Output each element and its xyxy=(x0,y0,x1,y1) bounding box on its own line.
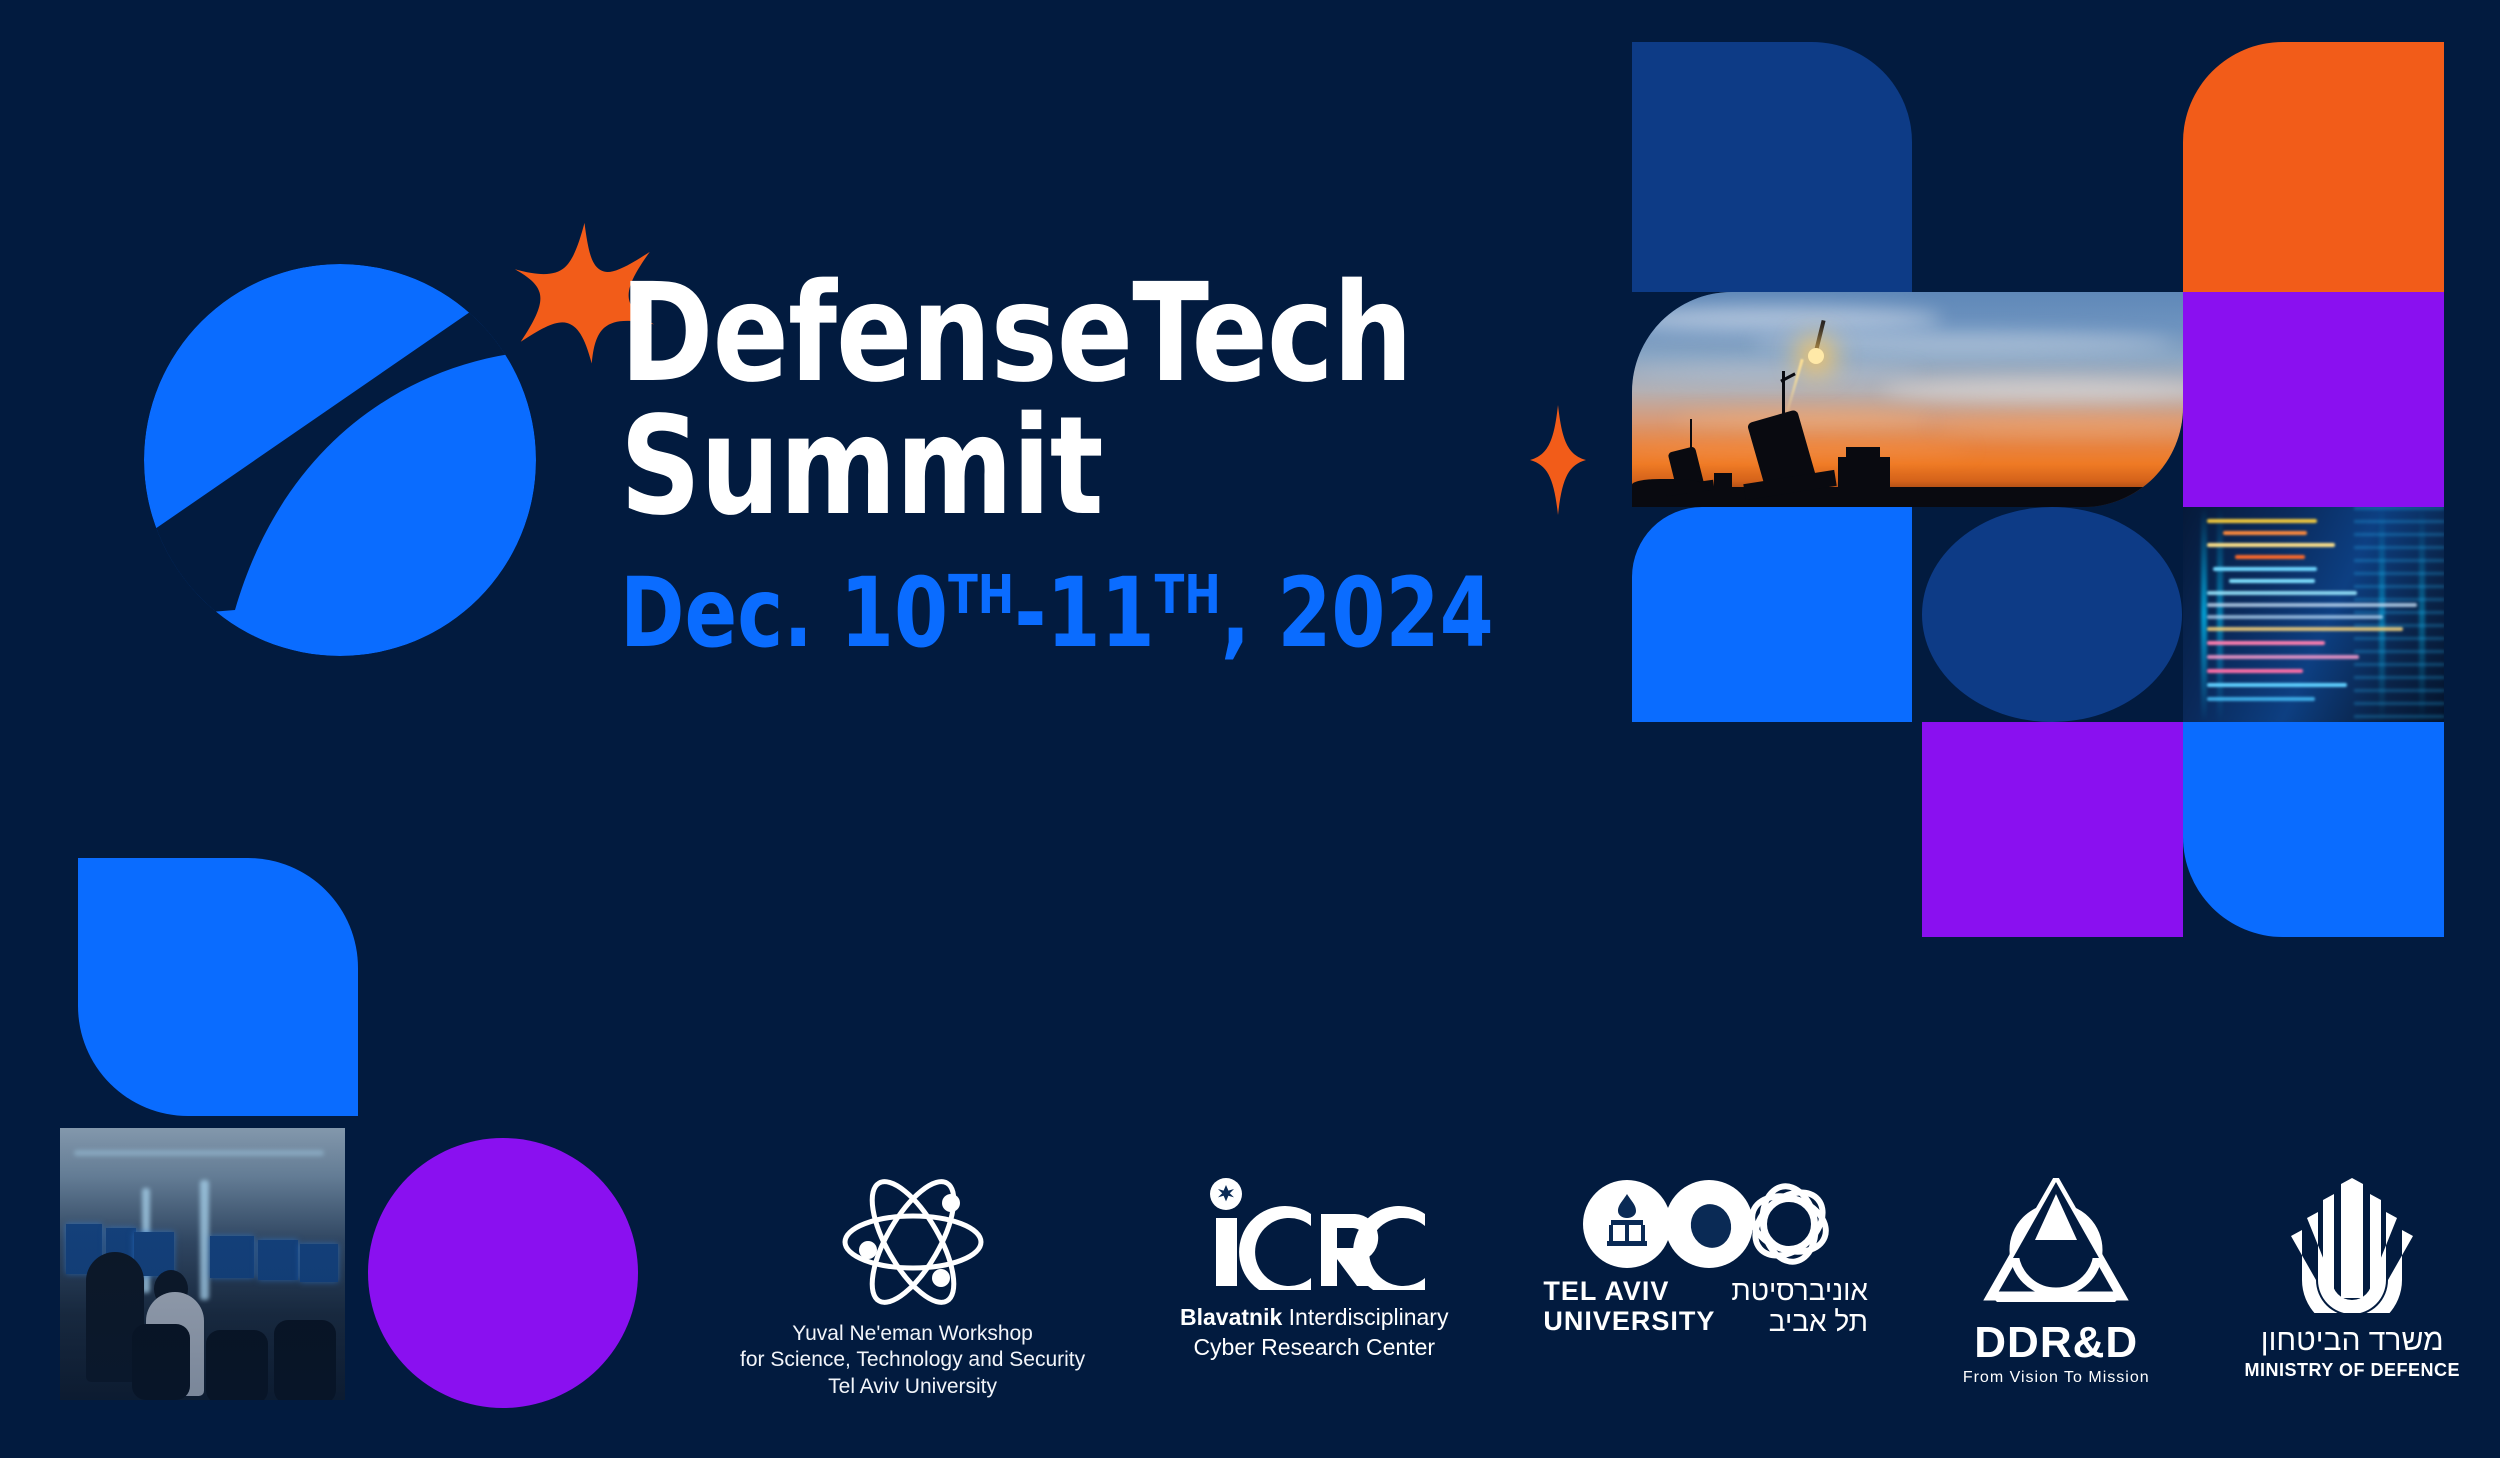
iron-dome-launch-photo xyxy=(1632,292,2183,507)
sponsor-caption: Yuval Ne'eman Workshop for Science, Tech… xyxy=(740,1321,1085,1400)
purple-circle xyxy=(368,1138,638,1408)
server-code-photo xyxy=(2183,507,2444,722)
sponsor-ministry-of-defence: משרד הביטחון MINISTRY OF DEFENCE xyxy=(2244,1178,2460,1381)
mod-hebrew: משרד הביטחון xyxy=(2261,1326,2444,1356)
sponsor-logo-row: Yuval Ne'eman Workshop for Science, Tech… xyxy=(740,1178,2460,1423)
operations-room-photo xyxy=(60,1128,345,1400)
ddrd-triangle-icon xyxy=(1981,1178,2131,1313)
sponsor-tel-aviv-university: TEL AVIV UNIVERSITY אוניברסיטת תל אביב xyxy=(1543,1178,1868,1338)
navy-rounded-tile xyxy=(1632,42,1912,292)
orange-sparkle-icon-grid xyxy=(1508,405,1608,515)
orange-rounded-tile xyxy=(2183,42,2444,292)
bright-blue-tile xyxy=(1632,507,1912,722)
atom-icon xyxy=(838,1178,988,1311)
date-prefix: Dec. 10 xyxy=(620,557,948,669)
purple-tile-bottom xyxy=(1922,722,2183,937)
event-date: Dec. 10TH-11TH, 2024 xyxy=(620,565,1448,661)
sponsor-icrc: Blavatnik Interdisciplinary Cyber Resear… xyxy=(1180,1178,1448,1363)
date-ordinal-2: TH xyxy=(1155,563,1221,626)
sponsor-yuval-neeman-workshop: Yuval Ne'eman Workshop for Science, Tech… xyxy=(740,1178,1085,1400)
brand-block: DefenseTech Summit Dec. 10TH-11TH, 2024 xyxy=(140,240,1540,740)
menorah-arch-icon xyxy=(2277,1178,2427,1318)
sponsor-caption-bold: Blavatnik xyxy=(1180,1304,1282,1330)
ddrd-tagline: From Vision To Mission xyxy=(1963,1369,2150,1387)
date-ordinal-1: TH xyxy=(948,563,1014,626)
title-wrap: DefenseTech Summit Dec. 10TH-11TH, 2024 xyxy=(620,268,1540,661)
ddrd-wordmark: DDR&D xyxy=(1974,1321,2138,1365)
page-title-line-2: Summit xyxy=(620,401,1466,534)
poster-canvas: DefenseTech Summit Dec. 10TH-11TH, 2024 xyxy=(0,0,2500,1458)
navy-ellipse-tile xyxy=(1922,507,2182,722)
date-dash: -11 xyxy=(1014,557,1154,669)
tau-hebrew: אוניברסיטת תל אביב xyxy=(1731,1275,1868,1338)
tau-three-circles-icon xyxy=(1581,1178,1831,1275)
tau-english-line2: UNIVERSITY xyxy=(1543,1306,1715,1336)
purple-tile-top xyxy=(2183,292,2444,507)
tau-english-line1: TEL AVIV xyxy=(1543,1276,1715,1306)
sponsor-ddrd: DDR&D From Vision To Mission xyxy=(1963,1178,2150,1387)
sponsor-caption-rest: Interdisciplinary xyxy=(1282,1304,1448,1330)
bright-blue-tile-bottom xyxy=(2183,722,2444,937)
tau-hebrew-line2: תל אביב xyxy=(1731,1306,1868,1337)
date-suffix: , 2024 xyxy=(1221,557,1494,669)
tau-hebrew-line1: אוניברסיטת xyxy=(1731,1275,1868,1306)
sponsor-caption-line2: Cyber Research Center xyxy=(1193,1334,1435,1360)
graphic-grid xyxy=(1632,42,2444,887)
icrc-wordmark-icon xyxy=(1199,1178,1429,1295)
mod-english: MINISTRY OF DEFENCE xyxy=(2244,1360,2460,1381)
circle-swoosh-logo xyxy=(140,260,540,660)
tau-english: TEL AVIV UNIVERSITY xyxy=(1543,1276,1715,1336)
page-title-line-1: DefenseTech xyxy=(620,268,1466,401)
blue-rounded-tab xyxy=(78,858,358,1116)
sponsor-caption: Blavatnik Interdisciplinary Cyber Resear… xyxy=(1180,1303,1448,1363)
tau-wordmark: TEL AVIV UNIVERSITY אוניברסיטת תל אביב xyxy=(1543,1275,1868,1338)
